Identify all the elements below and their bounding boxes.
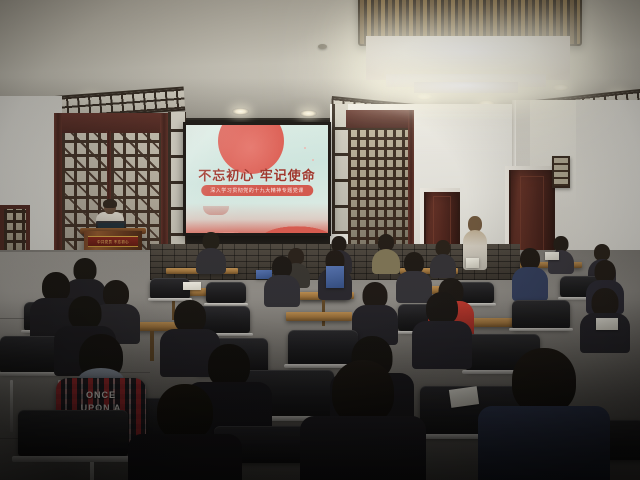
chair-back [18,410,128,456]
lantern-diffuser-step-2 [414,82,518,93]
projector-screen[interactable]: 不忘初心 牢记使命 深入学习贯彻党的十九大精神专题党课 [186,125,328,233]
conference-hall-photo: 不忘初心 牢记使命 深入学习贯彻党的十九大精神专题党课 中共党员 不忘初心 [0,0,640,480]
desk-leg-row4-left [150,331,154,361]
ceiling-lantern [352,0,584,86]
backwall-header-right [346,110,412,128]
presenter-hair [103,199,117,208]
attendee-head [512,348,576,414]
lectern-banner: 中共党员 不忘初心 [88,236,138,247]
attendee-row1-right [478,348,610,480]
downlight-3 [232,108,249,115]
chair-arm [12,456,134,462]
attendee-row5-2 [264,256,300,304]
blue-folder-row5 [326,266,344,288]
desk-row4-mid [286,312,352,321]
attendee-row3-3 [412,292,472,364]
slide-sparkle-1 [304,147,306,149]
attendee-head [157,384,213,440]
backwall-post-right [408,110,414,252]
downlight-6 [416,93,433,100]
handout-row4 [596,318,618,330]
attendee-row4-5 [580,288,630,346]
slide-mountain-graphic [186,203,328,233]
wall-plaque-decoration [552,156,570,188]
attendee-back-5 [430,240,456,276]
attendee-row4-4 [352,282,398,338]
ceiling-sensor-icon [318,44,327,49]
slide-title: 不忘初心 牢记使命 [186,165,328,184]
handout-row5 [183,282,201,290]
attendee-head [69,296,102,330]
chair-arm [509,328,573,331]
attendee-back-1 [196,232,226,272]
attendee-torso [478,406,610,480]
lattice-panel-back-right [348,128,410,250]
attendee-torso [512,267,548,301]
chair-leg [10,380,13,432]
lectern-banner-text: 中共党员 不忘初心 [88,237,138,246]
downlight-4 [300,110,317,117]
attendee-row5-5-navy [512,248,548,298]
slide-subtitle: 深入学习贯彻党的十九大精神专题党课 [201,185,313,196]
slide-sparkle-2 [312,159,314,161]
attendee-torso [264,275,300,307]
stage-wall-header [54,113,168,135]
attendee-torso [196,248,226,274]
chair-back [512,300,570,329]
chair-row1-1[interactable] [18,410,128,480]
attendee-row1-left [128,384,242,480]
attendee-torso [430,254,456,278]
attendee-torso [128,434,242,480]
white-booklet-back [466,258,479,268]
handout-row2 [449,386,479,408]
attendee-head [332,360,394,424]
attendee-row1-center [300,360,426,480]
attendee-torso [300,416,426,480]
